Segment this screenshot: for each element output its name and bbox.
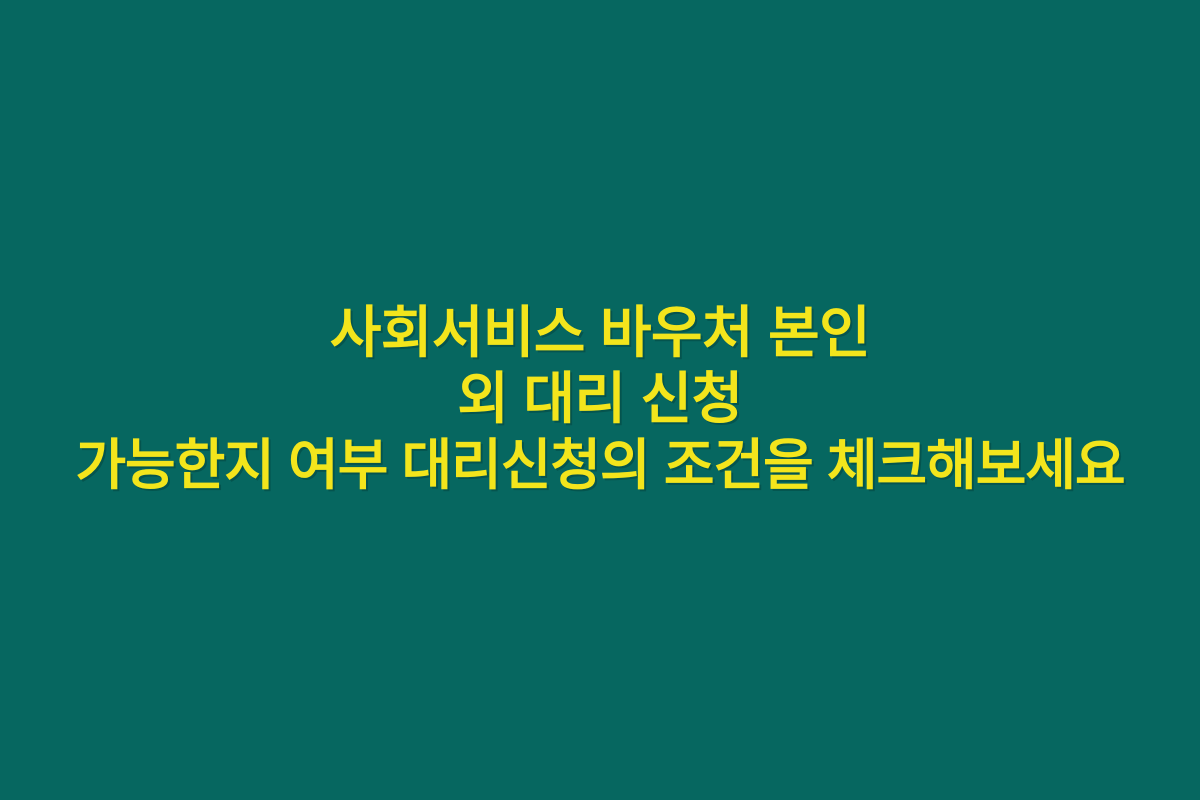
headline-line-3: 가능한지 여부 대리신청의 조건을 체크해보세요 [0,432,1200,498]
headline-line-2: 외 대리 신청 [0,366,1200,432]
headline-block: 사회서비스 바우처 본인 외 대리 신청 가능한지 여부 대리신청의 조건을 체… [0,300,1200,498]
headline-line-1: 사회서비스 바우처 본인 [0,300,1200,366]
banner-container: 사회서비스 바우처 본인 외 대리 신청 가능한지 여부 대리신청의 조건을 체… [0,0,1200,800]
